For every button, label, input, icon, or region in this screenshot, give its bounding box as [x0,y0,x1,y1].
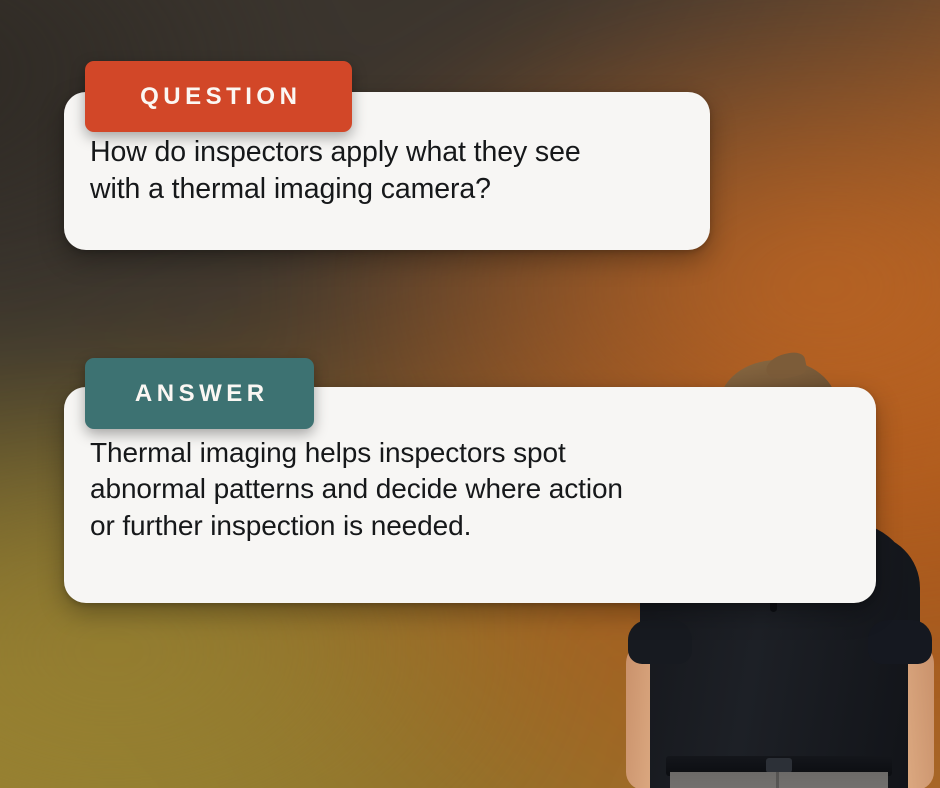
belt-buckle [766,758,792,773]
trouser-seam [776,772,779,788]
sleeve-left [628,620,692,664]
social-card-canvas: CFBI How do inspectors apply what they s… [0,0,940,788]
answer-badge: ANSWER [85,358,314,429]
question-badge: QUESTION [85,61,352,132]
sleeve-right [868,620,932,664]
answer-text: Thermal imaging helps inspectors spot ab… [90,435,750,544]
trousers [670,772,888,788]
question-text: How do inspectors apply what they see wi… [90,134,690,208]
